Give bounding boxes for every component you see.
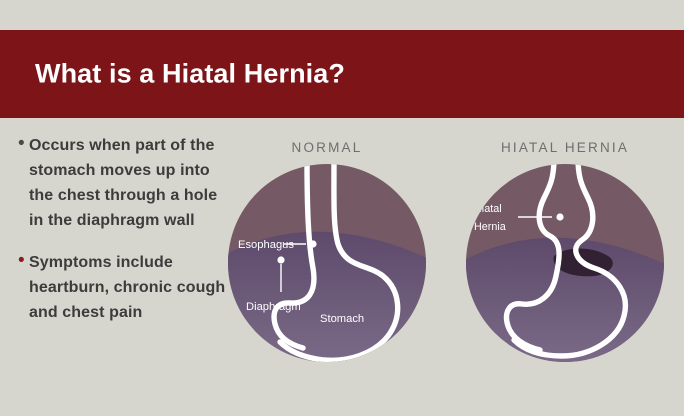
title-banner: What is a Hiatal Hernia?	[0, 30, 684, 118]
diagram-heading-hernia: HIATAL HERNIA	[466, 140, 664, 155]
annotation-label: Stomach	[320, 313, 364, 325]
bullet-marker-icon: •	[18, 132, 29, 156]
bullet-marker-icon: •	[18, 249, 29, 273]
diagram-normal: NORMAL	[228, 140, 426, 362]
page-title: What is a Hiatal Hernia?	[35, 59, 345, 90]
annotation-label: Esophagus	[238, 239, 294, 251]
list-item: • Symptoms include heartburn, chronic co…	[18, 250, 233, 325]
infographic-page: What is a Hiatal Hernia? • Occurs when p…	[0, 0, 684, 416]
diagram-normal-illustration: Esophagus Diaphragm Stomach	[228, 164, 426, 362]
annotation-stomach: Stomach	[320, 313, 364, 325]
diagram-hiatal-hernia: HIATAL HERNIA	[466, 140, 664, 362]
diagram-hernia-illustration: Hiatal Hernia	[466, 164, 664, 362]
annotation-label-line1: Hiatal	[474, 203, 502, 215]
bullet-text: Occurs when part of the stomach moves up…	[29, 133, 233, 233]
diagram-heading-normal: NORMAL	[228, 140, 426, 155]
bullet-list: • Occurs when part of the stomach moves …	[18, 133, 233, 342]
annotation-label-line2: Hernia	[474, 221, 506, 233]
list-item: • Occurs when part of the stomach moves …	[18, 133, 233, 233]
annotation-label: Diaphragm	[246, 301, 301, 313]
bullet-text: Symptoms include heartburn, chronic coug…	[29, 250, 233, 325]
